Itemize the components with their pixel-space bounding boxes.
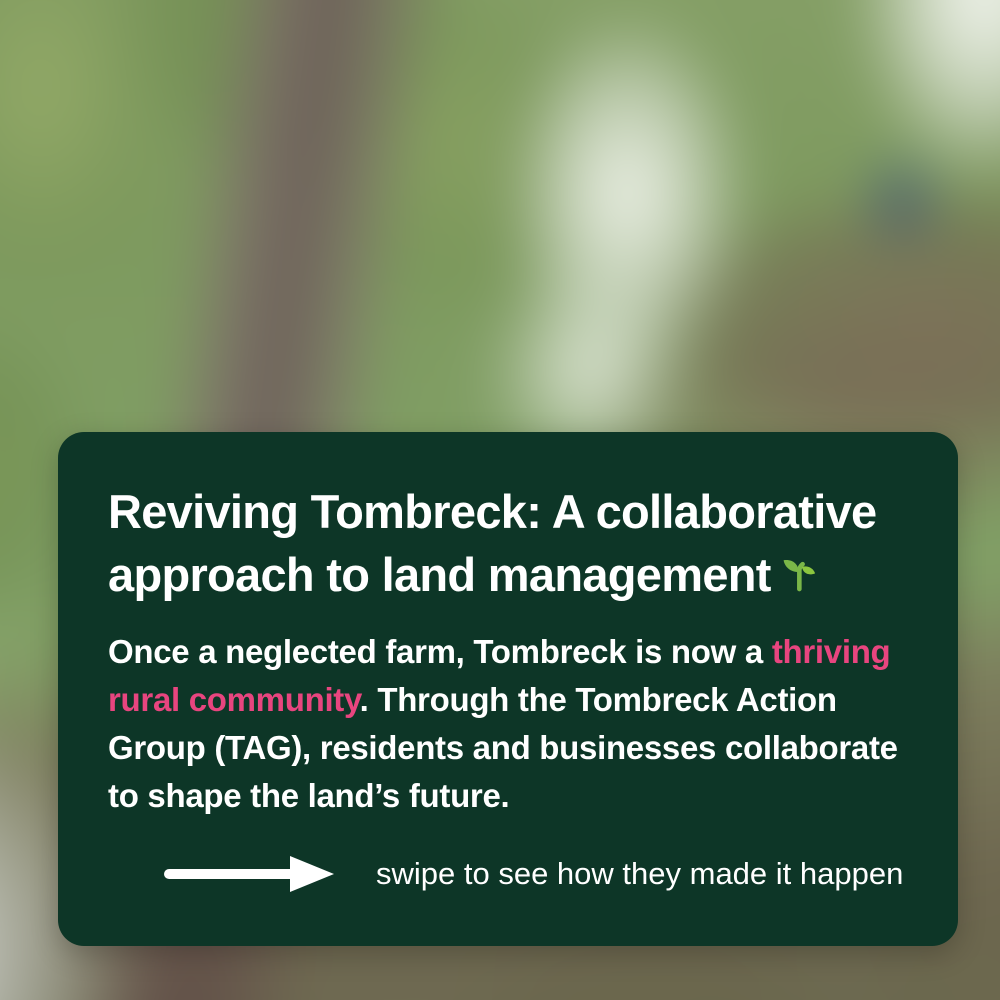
content-card: Reviving Tombreck: A collaborative appro… [58,432,958,946]
page-title: Reviving Tombreck: A collaborative appro… [108,480,906,606]
arrow-right-icon [164,852,338,896]
swipe-cta-label: swipe to see how they made it happen [376,856,903,892]
headline-line-1: Reviving Tombreck: A collaborative [108,480,906,543]
seedling-icon [779,551,821,593]
headline-line-2: approach to land management [108,548,771,601]
headline-line-2-wrap: approach to land management [108,543,906,606]
story-slide: Reviving Tombreck: A collaborative appro… [0,0,1000,1000]
body-segment-1: Once a neglected farm, Tombreck is now a [108,633,772,670]
body-paragraph: Once a neglected farm, Tombreck is now a… [108,628,906,820]
swipe-cta[interactable]: swipe to see how they made it happen [164,852,903,896]
